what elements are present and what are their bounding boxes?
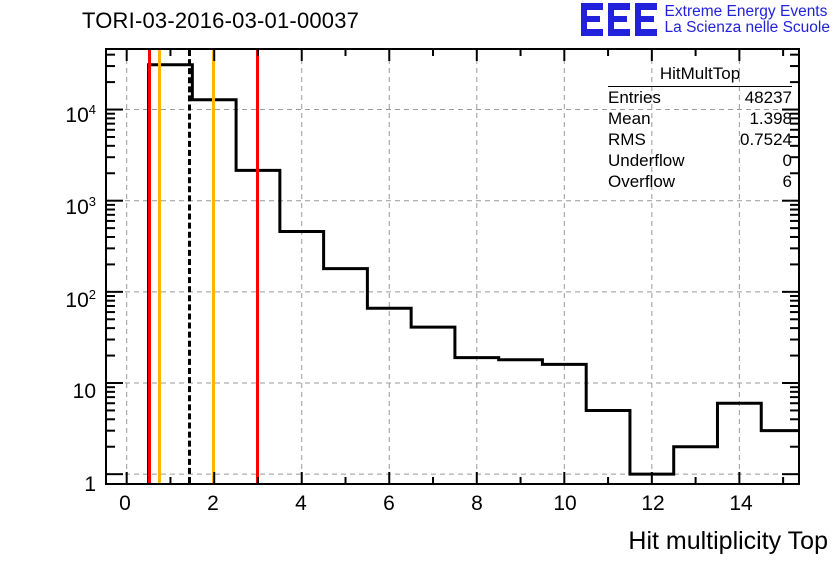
stats-box-title: HitMultTop [608, 64, 792, 87]
stats-value-rms: 0.7524 [740, 130, 792, 150]
x-tick-label-8: 8 [471, 492, 483, 516]
y-tick-label-1: 1 [0, 473, 96, 497]
x-tick-label-4: 4 [295, 492, 307, 516]
logo-letter-e-2 [608, 3, 630, 36]
stats-value-mean: 1.398 [749, 109, 792, 129]
stats-value-overflow: 6 [783, 172, 792, 192]
eee-logo-line2: La Scienza nelle Scuole [665, 20, 830, 36]
stats-key-underflow: Underflow [608, 151, 685, 171]
logo-letter-e-3 [635, 3, 657, 36]
stats-key-entries: Entries [608, 88, 661, 108]
stats-row-underflow: Underflow 0 [608, 150, 792, 171]
stats-row-mean: Mean 1.398 [608, 108, 792, 129]
stats-key-mean: Mean [608, 109, 651, 129]
stats-row-entries: Entries 48237 [608, 87, 792, 108]
eee-logo: Extreme Energy Events La Scienza nelle S… [581, 3, 830, 37]
eee-logo-mark [581, 3, 659, 37]
plot-title: TORI-03-2016-03-01-00037 [82, 8, 359, 34]
root-canvas: TORI-03-2016-03-01-00037 Extreme Energy … [0, 0, 836, 572]
eee-logo-line1: Extreme Energy Events [665, 4, 830, 20]
x-tick-label-14: 14 [729, 492, 752, 516]
y-tick-label-10: 10 [0, 380, 96, 404]
x-tick-label-6: 6 [383, 492, 395, 516]
x-tick-label-10: 10 [553, 492, 576, 516]
stats-key-rms: RMS [608, 130, 646, 150]
stats-value-underflow: 0 [783, 151, 792, 171]
stats-value-entries: 48237 [745, 88, 792, 108]
y-tick-label-100: 102 [0, 287, 96, 313]
x-tick-label-12: 12 [641, 492, 664, 516]
x-tick-label-0: 0 [119, 492, 131, 516]
x-tick-label-2: 2 [207, 492, 219, 516]
stats-key-overflow: Overflow [608, 172, 675, 192]
y-tick-label-1000: 103 [0, 194, 96, 220]
x-axis-title: Hit multiplicity Top [628, 527, 828, 556]
logo-letter-e-1 [581, 3, 603, 36]
stats-box[interactable]: HitMultTop Entries 48237 Mean 1.398 RMS … [608, 64, 792, 192]
eee-logo-text: Extreme Energy Events La Scienza nelle S… [665, 3, 830, 37]
stats-row-rms: RMS 0.7524 [608, 129, 792, 150]
stats-row-overflow: Overflow 6 [608, 171, 792, 192]
y-tick-label-10000: 104 [0, 102, 96, 128]
